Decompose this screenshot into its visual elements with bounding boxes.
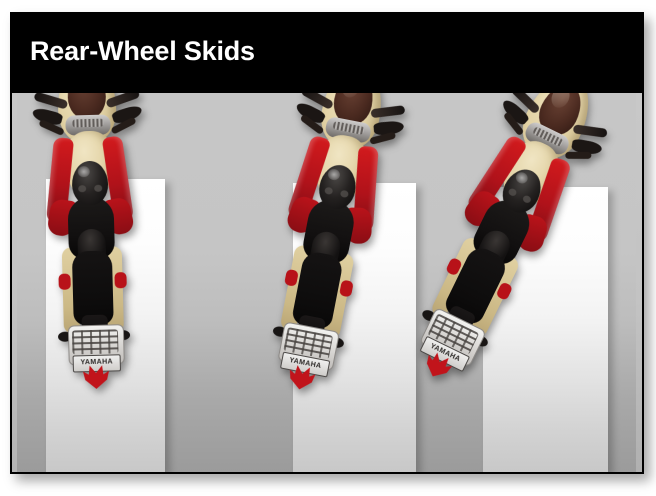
helmet-gloss	[514, 170, 530, 185]
windscreen-gloss	[548, 93, 573, 111]
page-title: Rear-Wheel Skids	[30, 36, 255, 67]
mirror-right	[571, 138, 603, 156]
exhaust-grille	[427, 313, 479, 355]
stage-left-gutter	[12, 93, 17, 472]
content-stage: YAMAHA	[12, 93, 642, 472]
windscreen	[67, 93, 106, 120]
instrument-detail	[333, 121, 365, 135]
licence-plate-text: YAMAHA	[422, 337, 469, 369]
front-fairing	[316, 93, 389, 153]
instrument-cowl	[522, 120, 571, 158]
helmet-gloss	[78, 166, 90, 177]
mirror-right	[111, 104, 144, 125]
stage-right-gutter	[636, 93, 642, 472]
mirror-left	[499, 97, 530, 127]
rear-exhaust-panel	[419, 307, 487, 368]
handlebar-right	[573, 124, 608, 138]
brake-lever-right	[369, 131, 396, 144]
tail-body-left	[429, 235, 481, 319]
front-fairing	[57, 93, 117, 144]
photo-panel-3	[483, 187, 608, 472]
helmet-gloss	[327, 168, 341, 181]
mirror-right	[373, 120, 404, 136]
footpeg-rear-left	[272, 325, 288, 337]
brake-lever-right	[110, 116, 136, 134]
brake-lever-left	[38, 119, 65, 136]
handlebar-right	[370, 105, 405, 118]
mirror-left	[31, 107, 63, 127]
handlebar-left	[33, 93, 68, 110]
windscreen-gloss	[340, 93, 361, 99]
brake-lever-left	[300, 114, 325, 135]
mirror-left	[294, 100, 327, 125]
brake-lever-right	[565, 152, 591, 159]
handlebar-left	[300, 93, 334, 110]
rear-tyre	[440, 304, 477, 342]
footpeg-mid-left	[445, 257, 463, 277]
photo-panel-2	[293, 183, 416, 472]
slide-card: Rear-Wheel Skids	[10, 12, 644, 474]
handlebar-left	[510, 93, 541, 115]
windscreen	[330, 93, 377, 128]
instrument-cowl	[65, 114, 111, 135]
rear-flame-burst	[421, 349, 455, 382]
handlebar-right	[105, 93, 140, 109]
instrument-detail	[72, 119, 103, 128]
instrument-cowl	[324, 116, 372, 144]
instrument-detail	[532, 126, 563, 147]
slide-header: Rear-Wheel Skids	[10, 12, 644, 93]
windscreen	[532, 93, 589, 141]
footpeg-rear-left	[421, 308, 438, 323]
front-fairing	[513, 93, 603, 167]
licence-plate: YAMAHA	[419, 336, 470, 372]
photo-panel-1	[46, 179, 165, 472]
brake-lever-left	[503, 111, 525, 136]
